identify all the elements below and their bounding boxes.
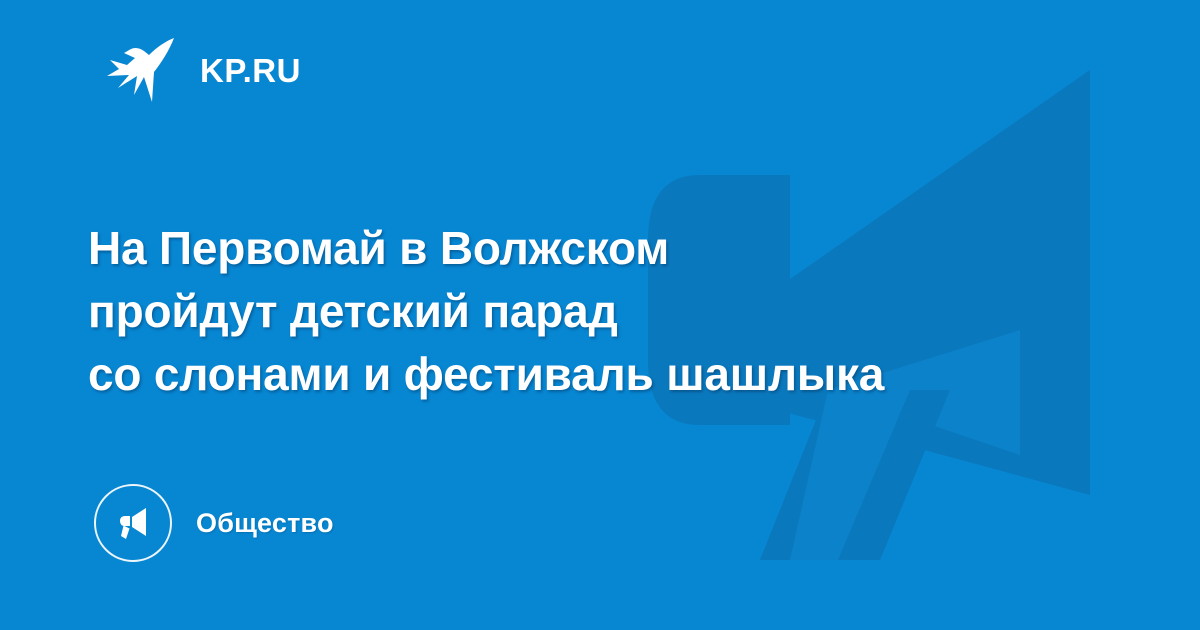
brand-header[interactable]: KP.RU <box>104 34 301 106</box>
headline-line-1: На Первомай в Волжском <box>88 217 1098 280</box>
category-badge[interactable]: Общество <box>94 484 334 562</box>
megaphone-icon <box>94 484 172 562</box>
article-share-card: KP.RU На Первомай в Волжском пройдут дет… <box>0 0 1200 630</box>
page-title: На Первомай в Волжском пройдут детский п… <box>88 217 1098 406</box>
swallow-bird-icon <box>104 35 178 105</box>
headline-line-3: со слонами и фестиваль шашлыка <box>88 343 1098 406</box>
headline-line-2: пройдут детский парад <box>88 280 1098 343</box>
brand-name: KP.RU <box>200 54 301 87</box>
category-label: Общество <box>196 508 334 539</box>
